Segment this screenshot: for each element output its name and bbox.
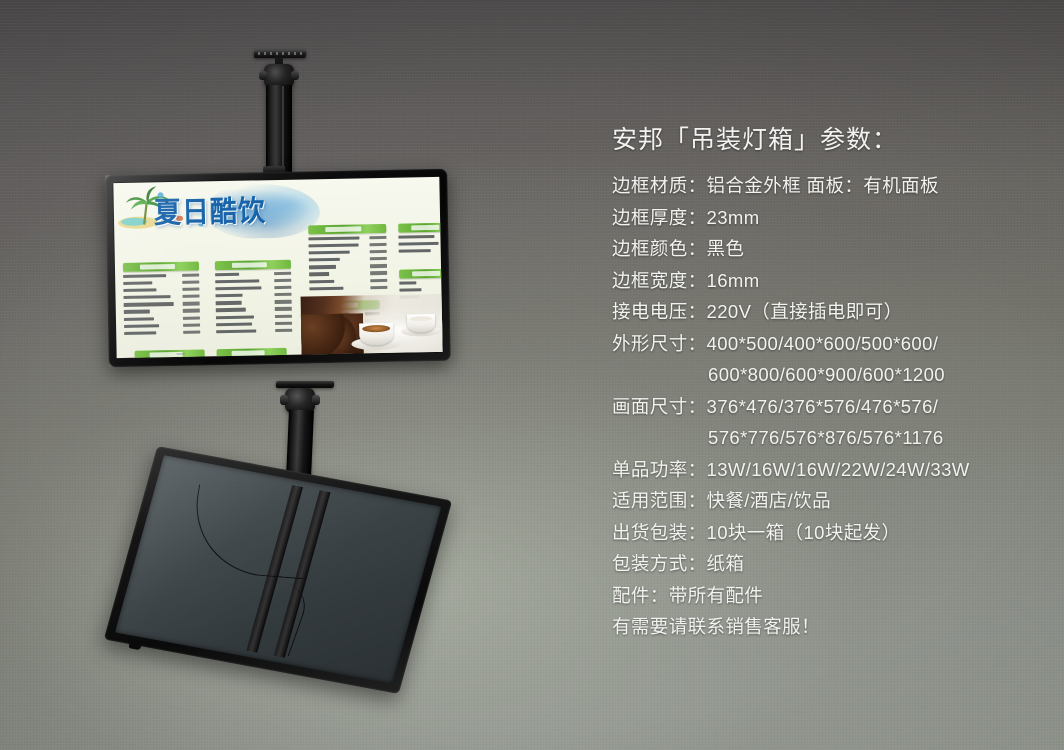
spec-line: 边框厚度：23mm (612, 202, 1042, 234)
mount-pole-upper (266, 85, 292, 173)
spec-line: 600*800/600*900/600*1200 (612, 359, 1042, 391)
spec-line: 有需要请联系销售客服！ (612, 611, 1042, 643)
menu-row (124, 295, 200, 300)
menu-section (215, 260, 292, 337)
spec-line: 外形尺寸：400*500/400*600/500*600/ (612, 328, 1042, 360)
coffee-photo (301, 294, 443, 355)
spec-line: 接电电压：220V（直接插电即可） (612, 296, 1042, 328)
menu-row (399, 249, 443, 254)
menu-row (309, 250, 387, 255)
coffee-liquid (362, 325, 390, 333)
menu-section (123, 262, 200, 339)
spec-title: 安邦「吊装灯箱」参数： (612, 122, 1042, 158)
section-rows (398, 235, 442, 254)
menu-row (308, 236, 386, 241)
specification-panel: 安邦「吊装灯箱」参数： 边框材质：铝合金外框 面板：有机面板 边框厚度：23mm… (612, 122, 1042, 643)
hanging-light-box-front: 夏日酷饮 (105, 169, 451, 368)
product-photo-canvas: 夏日酷饮 (0, 0, 1064, 750)
spec-line: 适用范围：快餐/酒店/饮品 (612, 485, 1042, 517)
coffee-cup-icon (359, 323, 393, 346)
section-rows (215, 272, 292, 334)
menu-row (123, 281, 199, 286)
menu-row (123, 274, 199, 279)
section-rows (308, 236, 387, 291)
menu-footer-url: www. (177, 352, 186, 356)
menu-face: 夏日酷饮 (113, 177, 442, 358)
section-header (215, 260, 291, 270)
power-cable (263, 583, 313, 656)
menu-row (123, 288, 199, 293)
menu-row (399, 242, 443, 247)
menu-row (216, 300, 292, 305)
menu-row (309, 286, 387, 291)
section-rows (123, 274, 200, 336)
section-header (123, 262, 199, 272)
frame-inner: 夏日酷饮 (112, 176, 443, 359)
menu-row (124, 316, 200, 321)
menu-row (215, 279, 291, 284)
coffee-beans-icon (301, 313, 364, 354)
menu-section (398, 223, 442, 257)
spec-line: 边框材质：铝合金外框 面板：有机面板 (612, 170, 1042, 202)
menu-hero: 夏日酷饮 (113, 179, 322, 245)
section-header (308, 224, 386, 234)
section-header (135, 349, 205, 358)
menu-row (124, 302, 200, 307)
power-cable (185, 485, 317, 580)
ceiling-plate-holes (258, 52, 302, 55)
menu-section (308, 224, 387, 294)
menu-row (216, 328, 292, 333)
spec-line: 配件：带所有配件 (612, 580, 1042, 612)
menu-row (399, 288, 442, 293)
menu-row (309, 257, 387, 262)
mount-plate-lower (276, 381, 335, 388)
menu-row (309, 271, 387, 276)
coffee-cup-icon (407, 314, 435, 333)
menu-row (309, 278, 387, 283)
spec-line: 边框宽度：16mm (612, 265, 1042, 297)
menu-row (216, 307, 292, 312)
spec-line: 出货包装：10块一箱（10块起发） (612, 517, 1042, 549)
menu-title: 夏日酷饮 (153, 187, 314, 242)
menu-row (215, 272, 291, 277)
menu-section (135, 349, 206, 358)
menu-row (309, 264, 387, 269)
menu-row (216, 314, 292, 319)
menu-row (124, 323, 200, 328)
rear-rail (246, 485, 303, 652)
menu-row (398, 235, 442, 240)
spec-line: 576*776/576*876/576*1176 (612, 422, 1042, 454)
menu-row (215, 286, 291, 291)
section-header (399, 269, 443, 279)
menu-row (216, 321, 292, 326)
spec-line: 单品功率：13W/16W/16W/22W/24W/33W (612, 454, 1042, 486)
mount-pole-seam (282, 86, 284, 172)
section-header (398, 223, 442, 233)
menu-row (215, 293, 291, 298)
menu-row (309, 243, 387, 248)
spec-line: 边框颜色：黑色 (612, 233, 1042, 265)
menu-row (124, 330, 200, 335)
spec-line: 画面尺寸：376*476/376*576/476*576/ (612, 391, 1042, 423)
spec-line: 包装方式：纸箱 (612, 548, 1042, 580)
coffee-liquid (410, 316, 432, 321)
rear-rail (274, 490, 331, 657)
menu-row (124, 309, 200, 314)
menu-row (399, 281, 442, 286)
